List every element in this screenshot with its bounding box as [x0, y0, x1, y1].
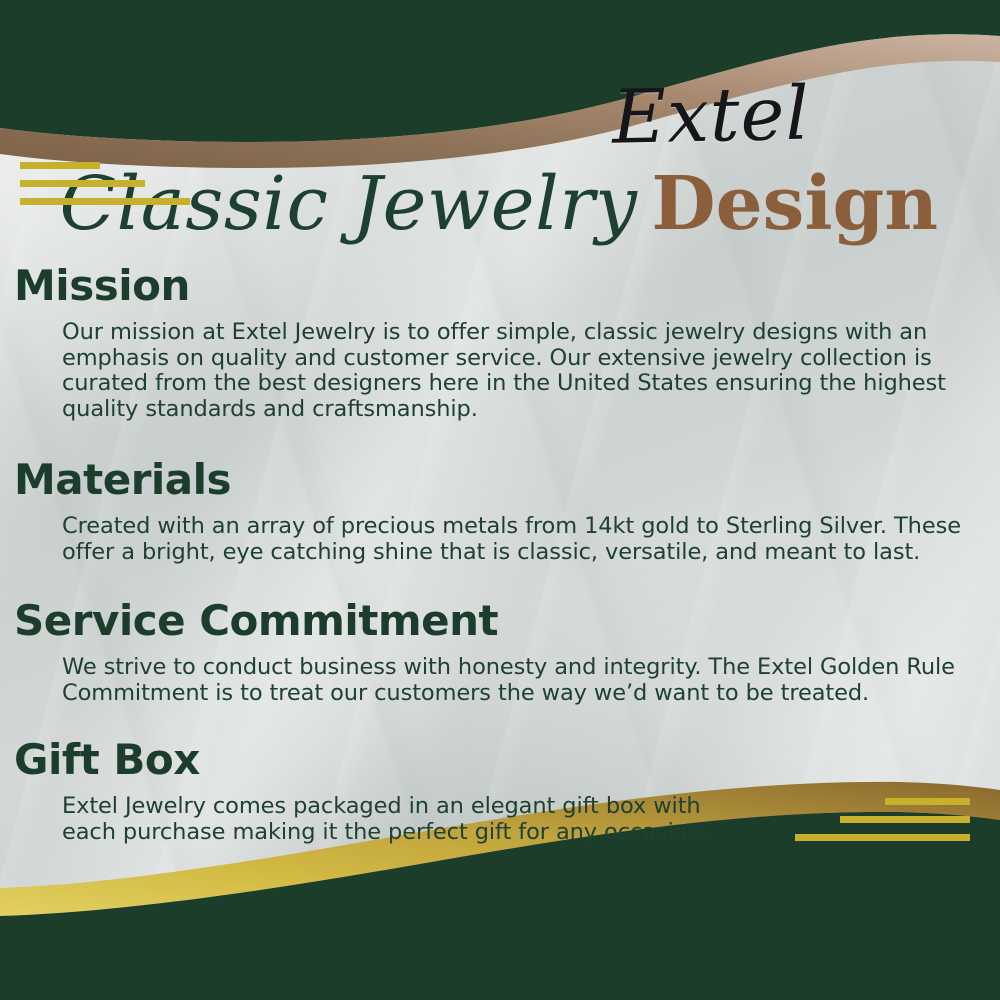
section-body-service: We strive to conduct business with hones… [0, 655, 1000, 706]
section-mission: Mission Our mission at Extel Jewelry is … [0, 258, 1000, 422]
section-heading-mission: Mission [0, 258, 1000, 314]
section-gift-box: Gift Box Extel Jewelry comes packaged in… [0, 732, 1000, 845]
section-materials: Materials Created with an array of preci… [0, 452, 1000, 565]
section-body-gift-box: Extel Jewelry comes packaged in an elega… [0, 794, 1000, 845]
section-body-materials: Created with an array of precious metals… [0, 514, 1000, 565]
poster-canvas: Extel Classic JewelryDesign Mission Our … [0, 0, 1000, 1000]
title-main-text: Classic Jewelry [59, 161, 637, 247]
section-service-commitment: Service Commitment We strive to conduct … [0, 593, 1000, 706]
poster-title: Classic JewelryDesign [0, 152, 1000, 262]
content-sections: Mission Our mission at Extel Jewelry is … [0, 258, 1000, 849]
section-heading-gift-box: Gift Box [0, 732, 1000, 788]
brand-logo-extel: Extel [611, 62, 973, 166]
section-heading-service: Service Commitment [0, 593, 1000, 649]
section-body-mission: Our mission at Extel Jewelry is to offer… [0, 320, 1000, 422]
section-heading-materials: Materials [0, 452, 1000, 508]
title-accent-text: Design [651, 161, 938, 247]
